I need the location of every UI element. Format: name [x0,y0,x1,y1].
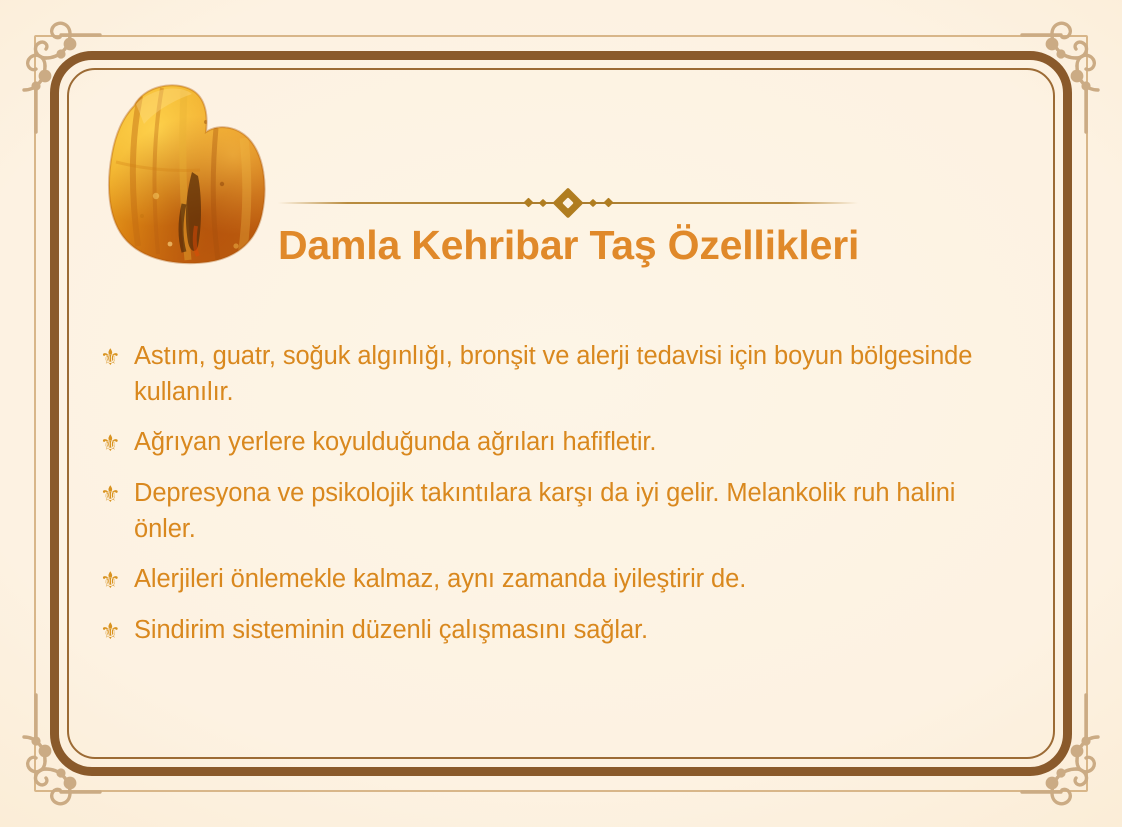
fleur-de-lis-icon: ⚜ [100,561,134,598]
list-item: ⚜ Sindirim sisteminin düzenli çalışmasın… [100,612,1020,649]
divider-dot [524,198,534,208]
amber-info-card: Damla Kehribar Taş Özellikleri ⚜ Astım, … [0,0,1122,827]
diamond-divider-ornament-icon [278,190,858,216]
fleur-de-lis-icon: ⚜ [100,424,134,461]
corner-ornament-top-right [988,14,1108,134]
list-item: ⚜ Alerjileri önlemekle kalmaz, aynı zama… [100,561,1020,598]
list-item: ⚜ Ağrıyan yerlere koyulduğunda ağrıları … [100,424,1020,461]
amber-stone-image [96,76,286,274]
fleur-de-lis-icon: ⚜ [100,612,134,649]
divider-dot [589,199,597,207]
divider-dot [604,198,614,208]
page-title: Damla Kehribar Taş Özellikleri [278,222,858,269]
corner-ornament-bottom-left [14,693,134,813]
fleur-de-lis-icon: ⚜ [100,338,134,375]
divider-diamond-icon [552,187,583,218]
feature-list: ⚜ Astım, guatr, soğuk algınlığı, bronşit… [100,338,1020,663]
fleur-de-lis-icon: ⚜ [100,475,134,512]
list-item-text: Ağrıyan yerlere koyulduğunda ağrıları ha… [134,424,1020,460]
list-item-text: Depresyona ve psikolojik takıntılara kar… [134,475,1020,547]
list-item-text: Astım, guatr, soğuk algınlığı, bronşit v… [134,338,1020,410]
heading-block: Damla Kehribar Taş Özellikleri [278,190,858,269]
list-item: ⚜ Astım, guatr, soğuk algınlığı, bronşit… [100,338,1020,410]
corner-ornament-bottom-right [988,693,1108,813]
list-item: ⚜ Depresyona ve psikolojik takıntılara k… [100,475,1020,547]
divider-dot [539,199,547,207]
list-item-text: Sindirim sisteminin düzenli çalışmasını … [134,612,1020,648]
list-item-text: Alerjileri önlemekle kalmaz, aynı zamand… [134,561,1020,597]
